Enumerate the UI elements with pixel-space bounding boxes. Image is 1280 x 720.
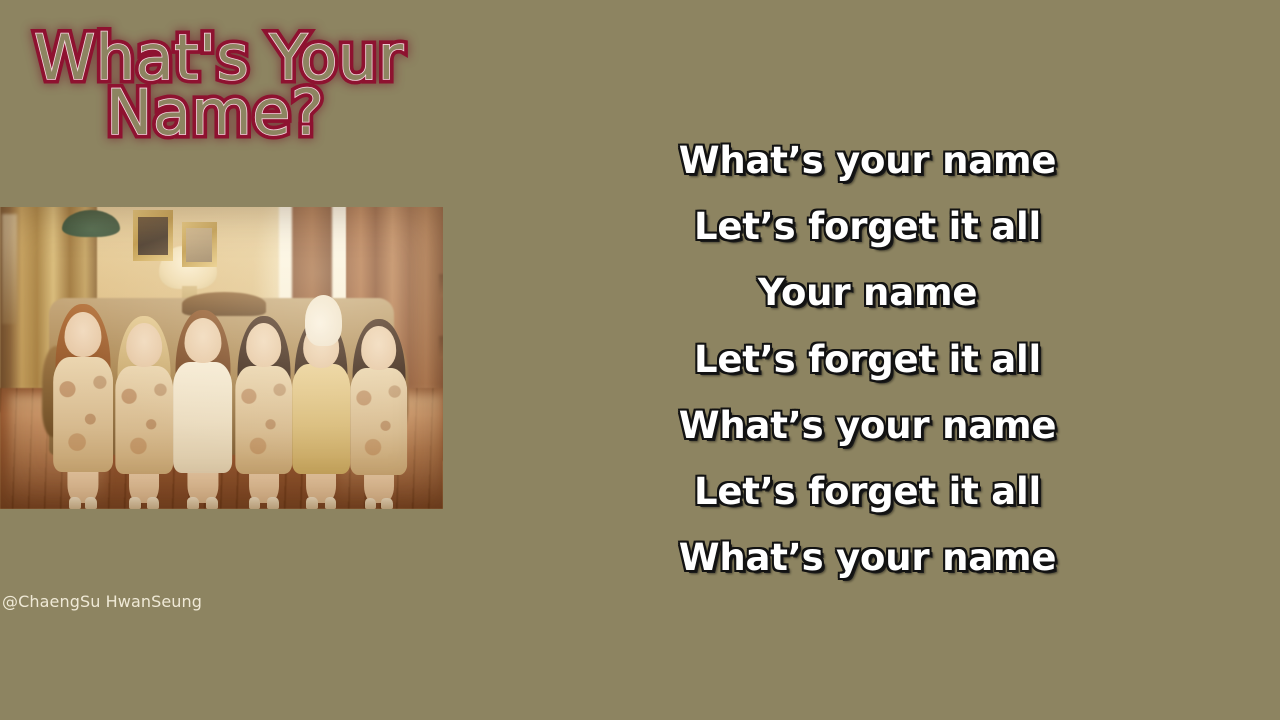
framed-portrait-small bbox=[182, 222, 217, 267]
member-2-head bbox=[126, 323, 162, 367]
member-2-dress bbox=[115, 366, 173, 474]
member-6-shoe-right bbox=[381, 498, 393, 509]
member-1-dress bbox=[53, 357, 113, 472]
member-5-hat bbox=[305, 295, 342, 346]
group-member-5 bbox=[292, 313, 350, 509]
lyrics-panel: What’s your name Let’s forget it all You… bbox=[640, 128, 1095, 592]
song-title-line-1-glow: What's Your bbox=[34, 31, 454, 84]
member-3-dress bbox=[173, 362, 233, 474]
lyric-line-4: Let’s forget it all bbox=[640, 327, 1095, 393]
member-1-shoe-left bbox=[69, 497, 81, 509]
member-1-shoe-right bbox=[85, 497, 97, 509]
member-4-shoe-right bbox=[267, 497, 279, 509]
lyric-line-3: Your name bbox=[640, 260, 1095, 326]
lyric-line-1: What’s your name bbox=[640, 128, 1095, 194]
lyric-line-6: Let’s forget it all bbox=[640, 459, 1095, 525]
group-photo bbox=[0, 207, 443, 509]
member-3-shoe-right bbox=[206, 497, 218, 509]
song-title-line-1: What's Your bbox=[34, 31, 454, 84]
group-member-4 bbox=[235, 316, 293, 509]
member-5-shoe-left bbox=[306, 497, 318, 509]
group-member-3 bbox=[173, 310, 233, 509]
group-member-6 bbox=[350, 319, 408, 509]
framed-portrait-large bbox=[133, 210, 173, 261]
member-4-dress bbox=[235, 366, 293, 474]
member-3-head bbox=[184, 318, 221, 363]
song-title-line-2: Name? bbox=[34, 86, 454, 139]
member-4-head bbox=[246, 323, 282, 367]
song-title: What's Your Name? bbox=[34, 31, 454, 140]
member-3-shoe-left bbox=[187, 497, 199, 509]
member-2-shoe-right bbox=[147, 497, 159, 509]
song-title-glow: What's Your Name? bbox=[34, 31, 454, 140]
group-member-1 bbox=[53, 304, 113, 509]
curtain-tieback-upper bbox=[439, 274, 443, 297]
member-1-head bbox=[65, 312, 102, 357]
song-title-line-2-glow: Name? bbox=[34, 86, 454, 139]
member-6-shoe-left bbox=[365, 498, 377, 509]
group-member-2 bbox=[115, 316, 173, 509]
member-4-shoe-left bbox=[249, 497, 261, 509]
lyric-video-frame: What's Your Name? What's Your Name? bbox=[0, 0, 1280, 720]
lyric-line-7: What’s your name bbox=[640, 525, 1095, 591]
group-photo-scene bbox=[0, 207, 443, 509]
lyric-line-5: What’s your name bbox=[640, 393, 1095, 459]
member-5-shoe-right bbox=[325, 497, 337, 509]
member-6-head bbox=[361, 326, 397, 370]
member-5-dress bbox=[292, 364, 350, 474]
member-2-shoe-left bbox=[129, 497, 141, 509]
channel-watermark: @ChaengSu HwanSeung bbox=[2, 592, 202, 611]
lyric-line-2: Let’s forget it all bbox=[640, 194, 1095, 260]
cabinet-glass-pane bbox=[2, 214, 17, 324]
curtain-tieback-lower bbox=[439, 336, 443, 359]
member-6-dress bbox=[350, 368, 408, 475]
